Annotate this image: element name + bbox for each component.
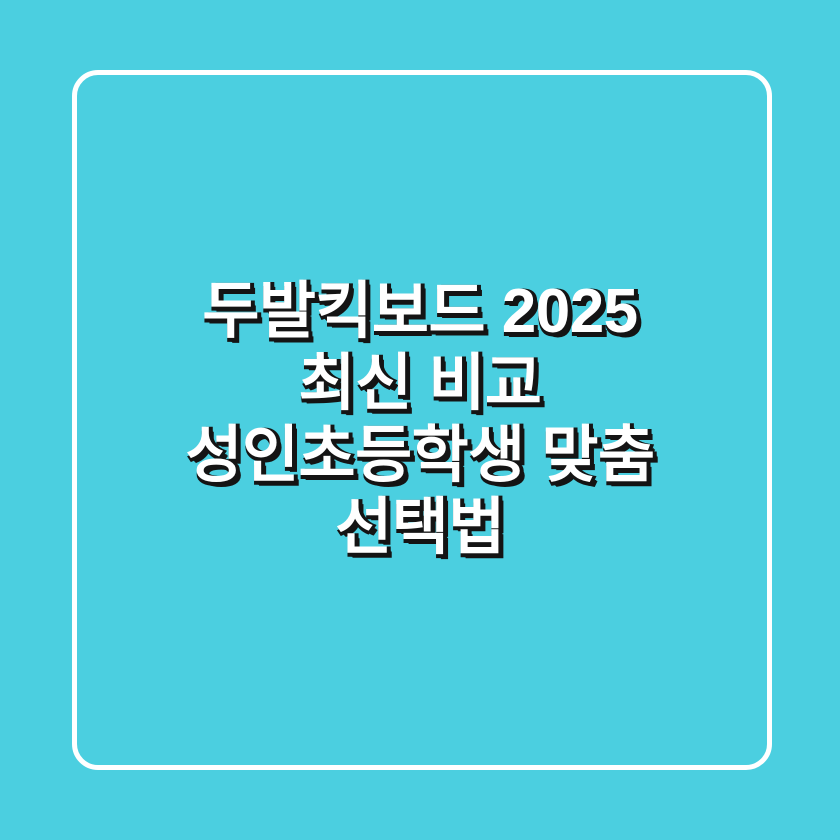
thumbnail-card: 두발킥보드 2025 최신 비교 성인초등학생 맞춤 선택법 <box>0 0 840 840</box>
headline-line-4: 선택법 <box>80 492 760 564</box>
headline-line-1: 두발킥보드 2025 <box>80 276 760 348</box>
headline-line-3: 성인초등학생 맞춤 <box>80 420 760 492</box>
headline-block: 두발킥보드 2025 최신 비교 성인초등학생 맞춤 선택법 <box>0 0 840 840</box>
headline-line-2: 최신 비교 <box>80 348 760 420</box>
